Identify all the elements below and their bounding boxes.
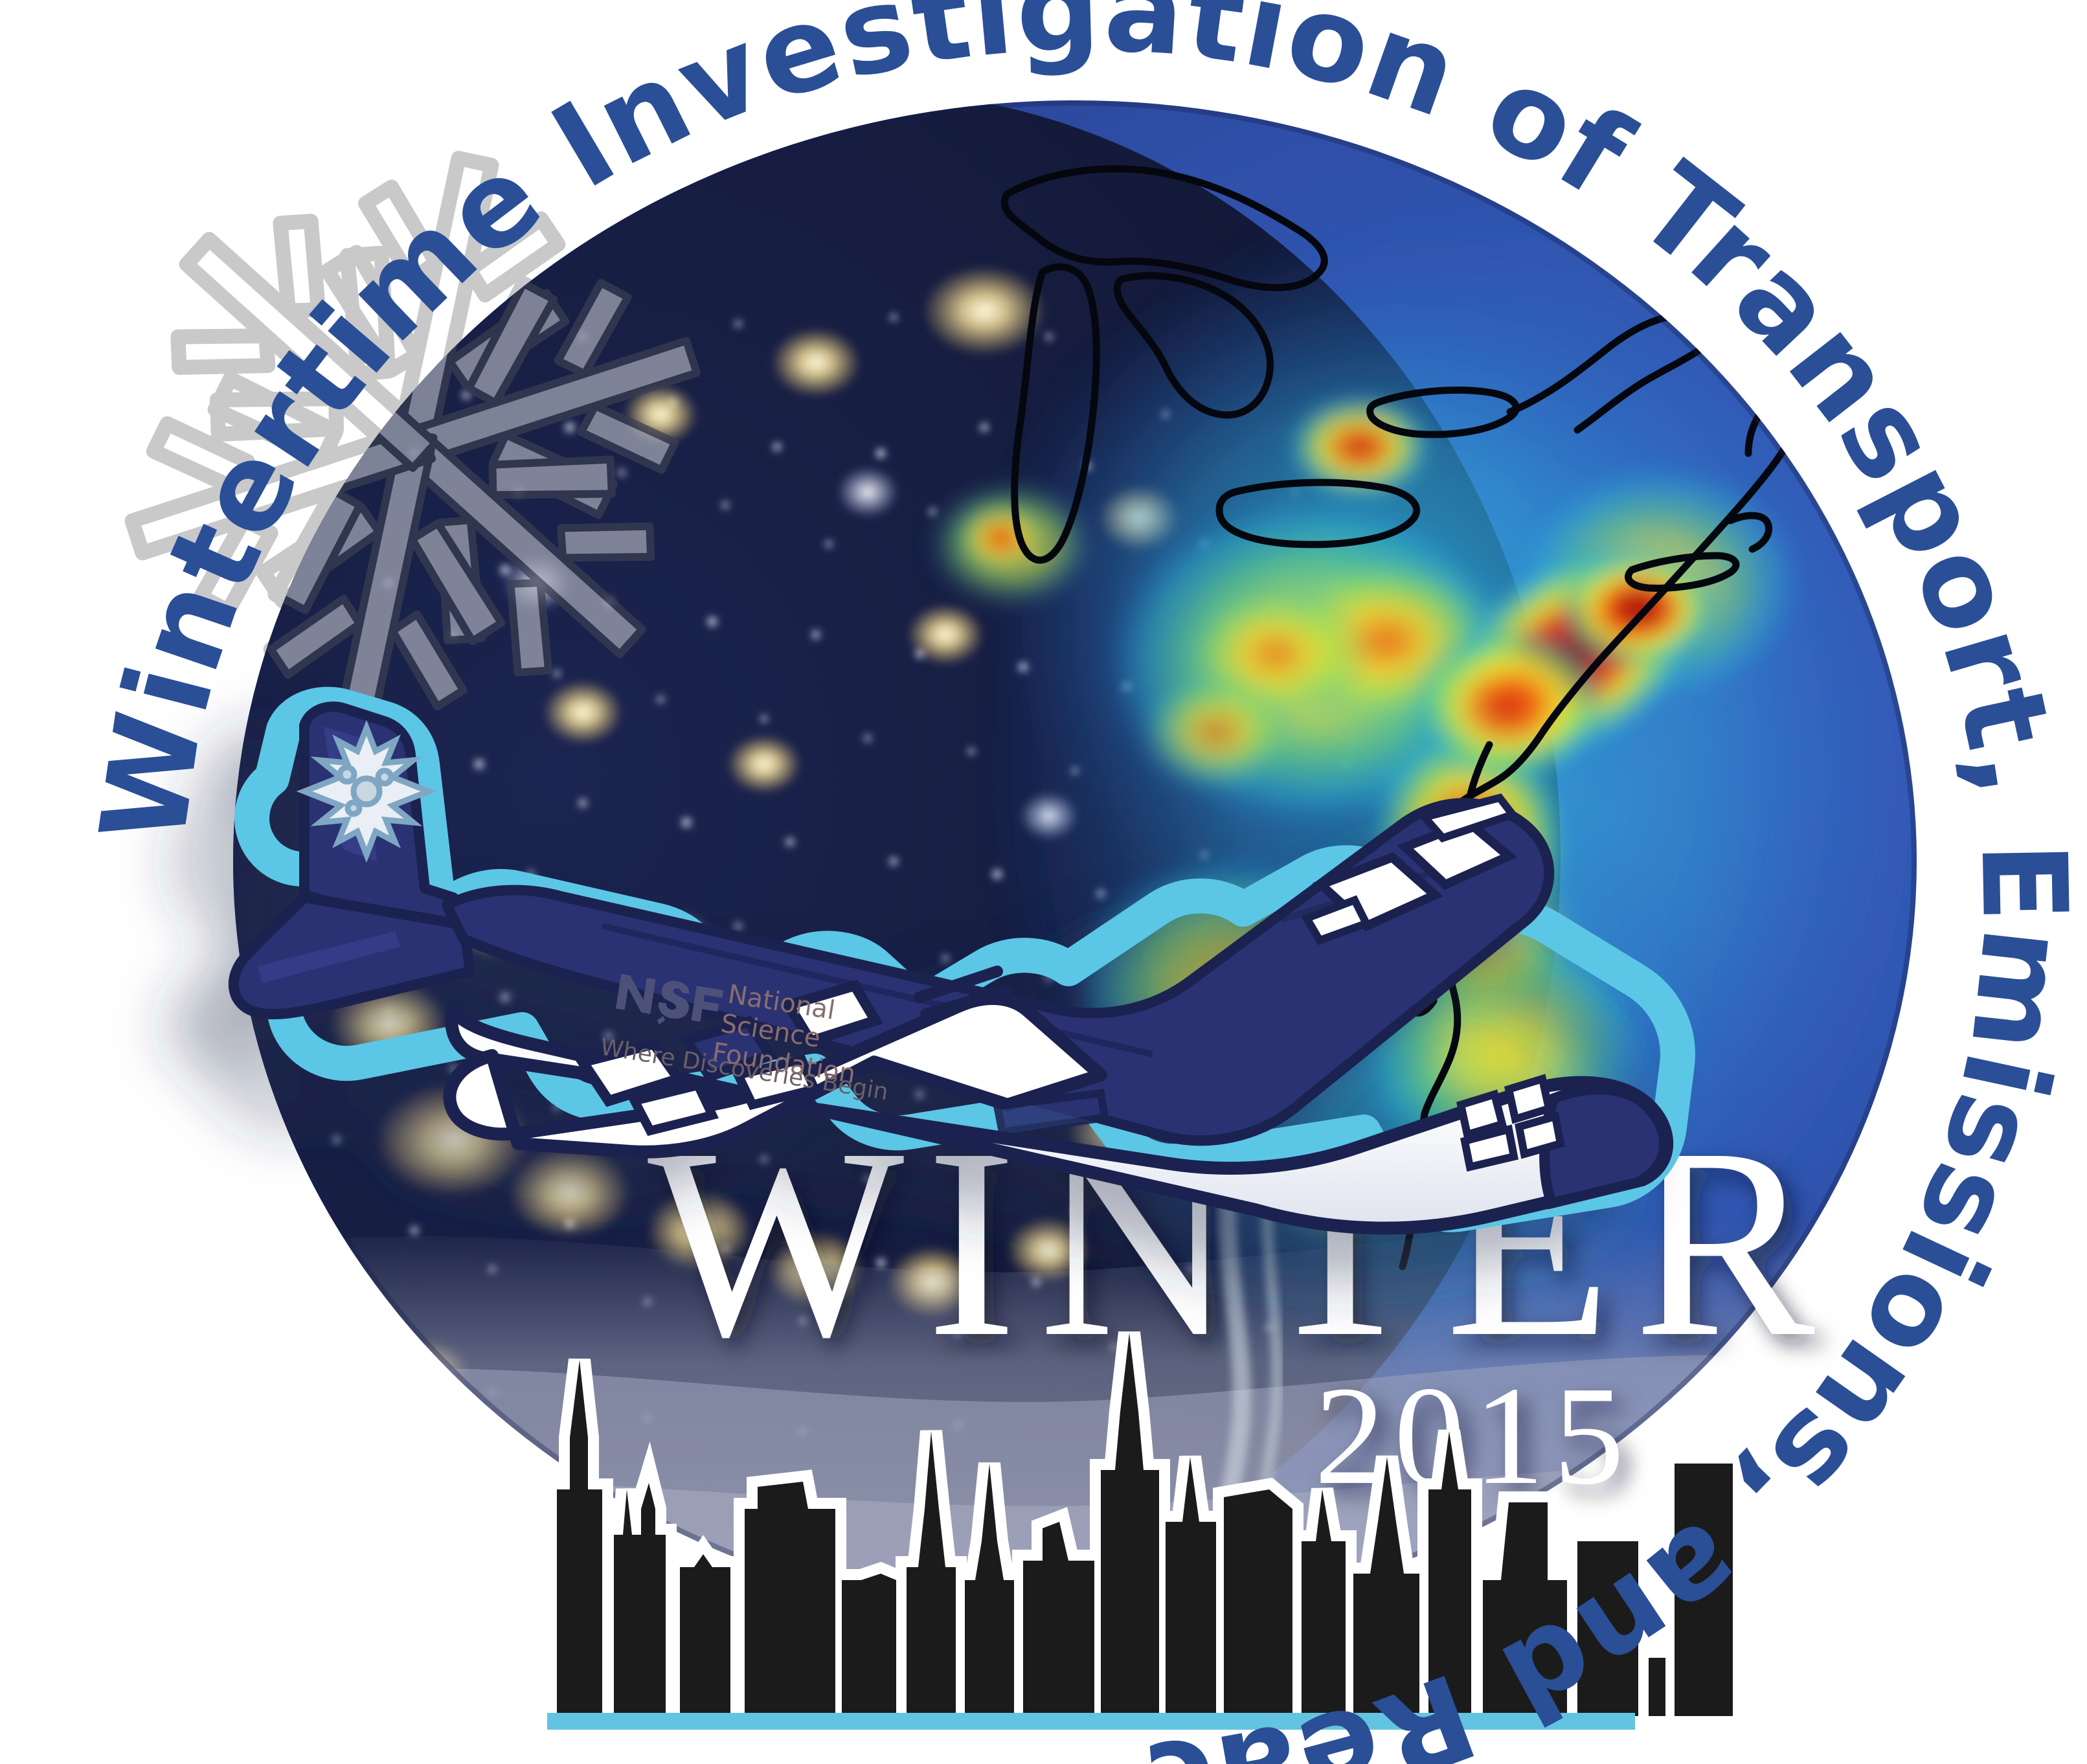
arc-title-text: Wintertime Investigation of Transport, E… (0, 0, 2087, 1764)
arc-title: Wintertime Investigation of Transport, E… (0, 0, 2087, 1764)
winter-2015-logo: WINTER 2015 (0, 0, 2087, 1764)
